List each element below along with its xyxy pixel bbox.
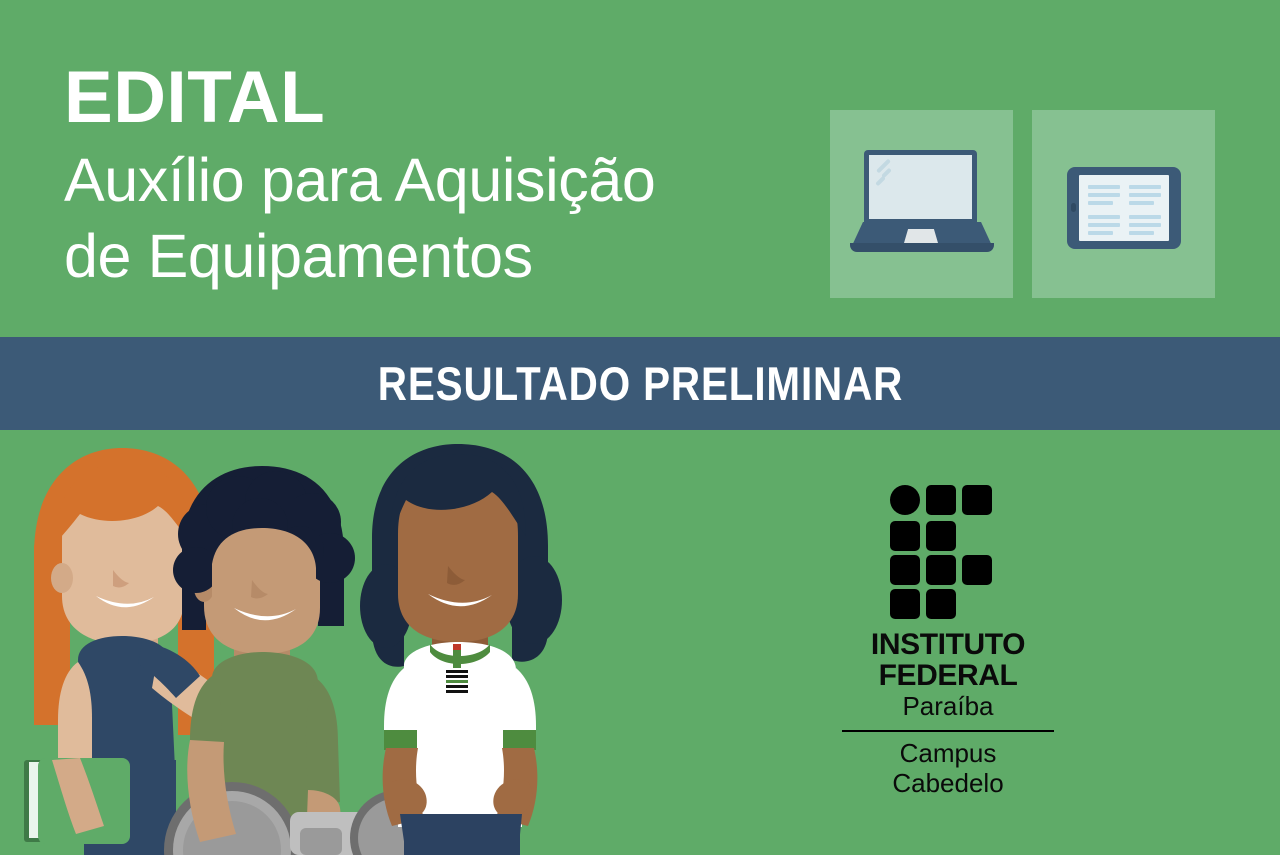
logo-dot-square: [926, 589, 956, 619]
logo-state-name: Paraíba: [838, 692, 1058, 721]
headline-block: EDITAL Auxílio para Aquisição de Equipam…: [64, 62, 824, 295]
tablet-text-line: [1129, 223, 1161, 227]
logo-dot-square: [926, 485, 956, 515]
logo-dot-square: [890, 589, 920, 619]
tablet-text-line: [1129, 201, 1154, 205]
tablet-text-line: [1088, 185, 1120, 189]
tablet-text-line: [1088, 231, 1113, 235]
logo-campus-line-1: Campus: [838, 738, 1058, 769]
logo-dot-square: [962, 555, 992, 585]
ifpb-logo: INSTITUTO FEDERAL Paraíba Campus Cabedel…: [838, 485, 1058, 799]
laptop-base-foot: [850, 243, 994, 252]
page-title-line-1: Auxílio para Aquisição: [64, 142, 824, 219]
logo-campus-name: Campus Cabedelo: [838, 738, 1058, 799]
header-section: EDITAL Auxílio para Aquisição de Equipam…: [0, 0, 1280, 337]
logo-dot-circle: [890, 485, 920, 515]
laptop-tile: [830, 110, 1013, 298]
logo-divider: [842, 730, 1054, 732]
tablet-camera-icon: [1071, 203, 1076, 212]
tablet-text-line: [1088, 223, 1120, 227]
logo-institution-line-1: INSTITUTO: [838, 630, 1058, 661]
page-title-line-2: de Equipamentos: [64, 218, 824, 295]
logo-campus-line-2: Cabedelo: [838, 768, 1058, 799]
tablet-screen: [1079, 175, 1169, 241]
tablet-text-line: [1088, 193, 1120, 197]
logo-institution-name: INSTITUTO FEDERAL: [838, 630, 1058, 691]
status-banner: RESULTADO PRELIMINAR: [0, 337, 1280, 430]
logo-dot-square: [926, 521, 956, 551]
logo-dot-square: [962, 485, 992, 515]
page-title-kicker: EDITAL: [64, 62, 824, 134]
three-students-illustration: [0, 430, 700, 855]
page-title: Auxílio para Aquisição de Equipamentos: [64, 142, 824, 296]
tablet-text-line: [1129, 193, 1161, 197]
logo-dot-square: [890, 521, 920, 551]
tablet-text-line: [1129, 231, 1154, 235]
tablet-text-line: [1129, 185, 1161, 189]
laptop-icon: [850, 150, 994, 260]
tablet-text-line: [1129, 215, 1161, 219]
tablet-text-line: [1088, 201, 1113, 205]
footer-section: INSTITUTO FEDERAL Paraíba Campus Cabedel…: [0, 430, 1280, 855]
logo-institution-line-2: FEDERAL: [838, 661, 1058, 692]
laptop-touchpad: [904, 229, 938, 243]
tablet-icon: [1067, 167, 1181, 249]
logo-dot-square: [890, 555, 920, 585]
poster-edital: EDITAL Auxílio para Aquisição de Equipam…: [0, 0, 1280, 855]
student-right: [360, 444, 562, 855]
logo-dot-square: [926, 555, 956, 585]
tablet-text-line: [1088, 215, 1120, 219]
ifpb-grid-mark-icon: [890, 485, 1006, 617]
status-badge: RESULTADO PRELIMINAR: [377, 356, 902, 411]
tablet-tile: [1032, 110, 1215, 298]
